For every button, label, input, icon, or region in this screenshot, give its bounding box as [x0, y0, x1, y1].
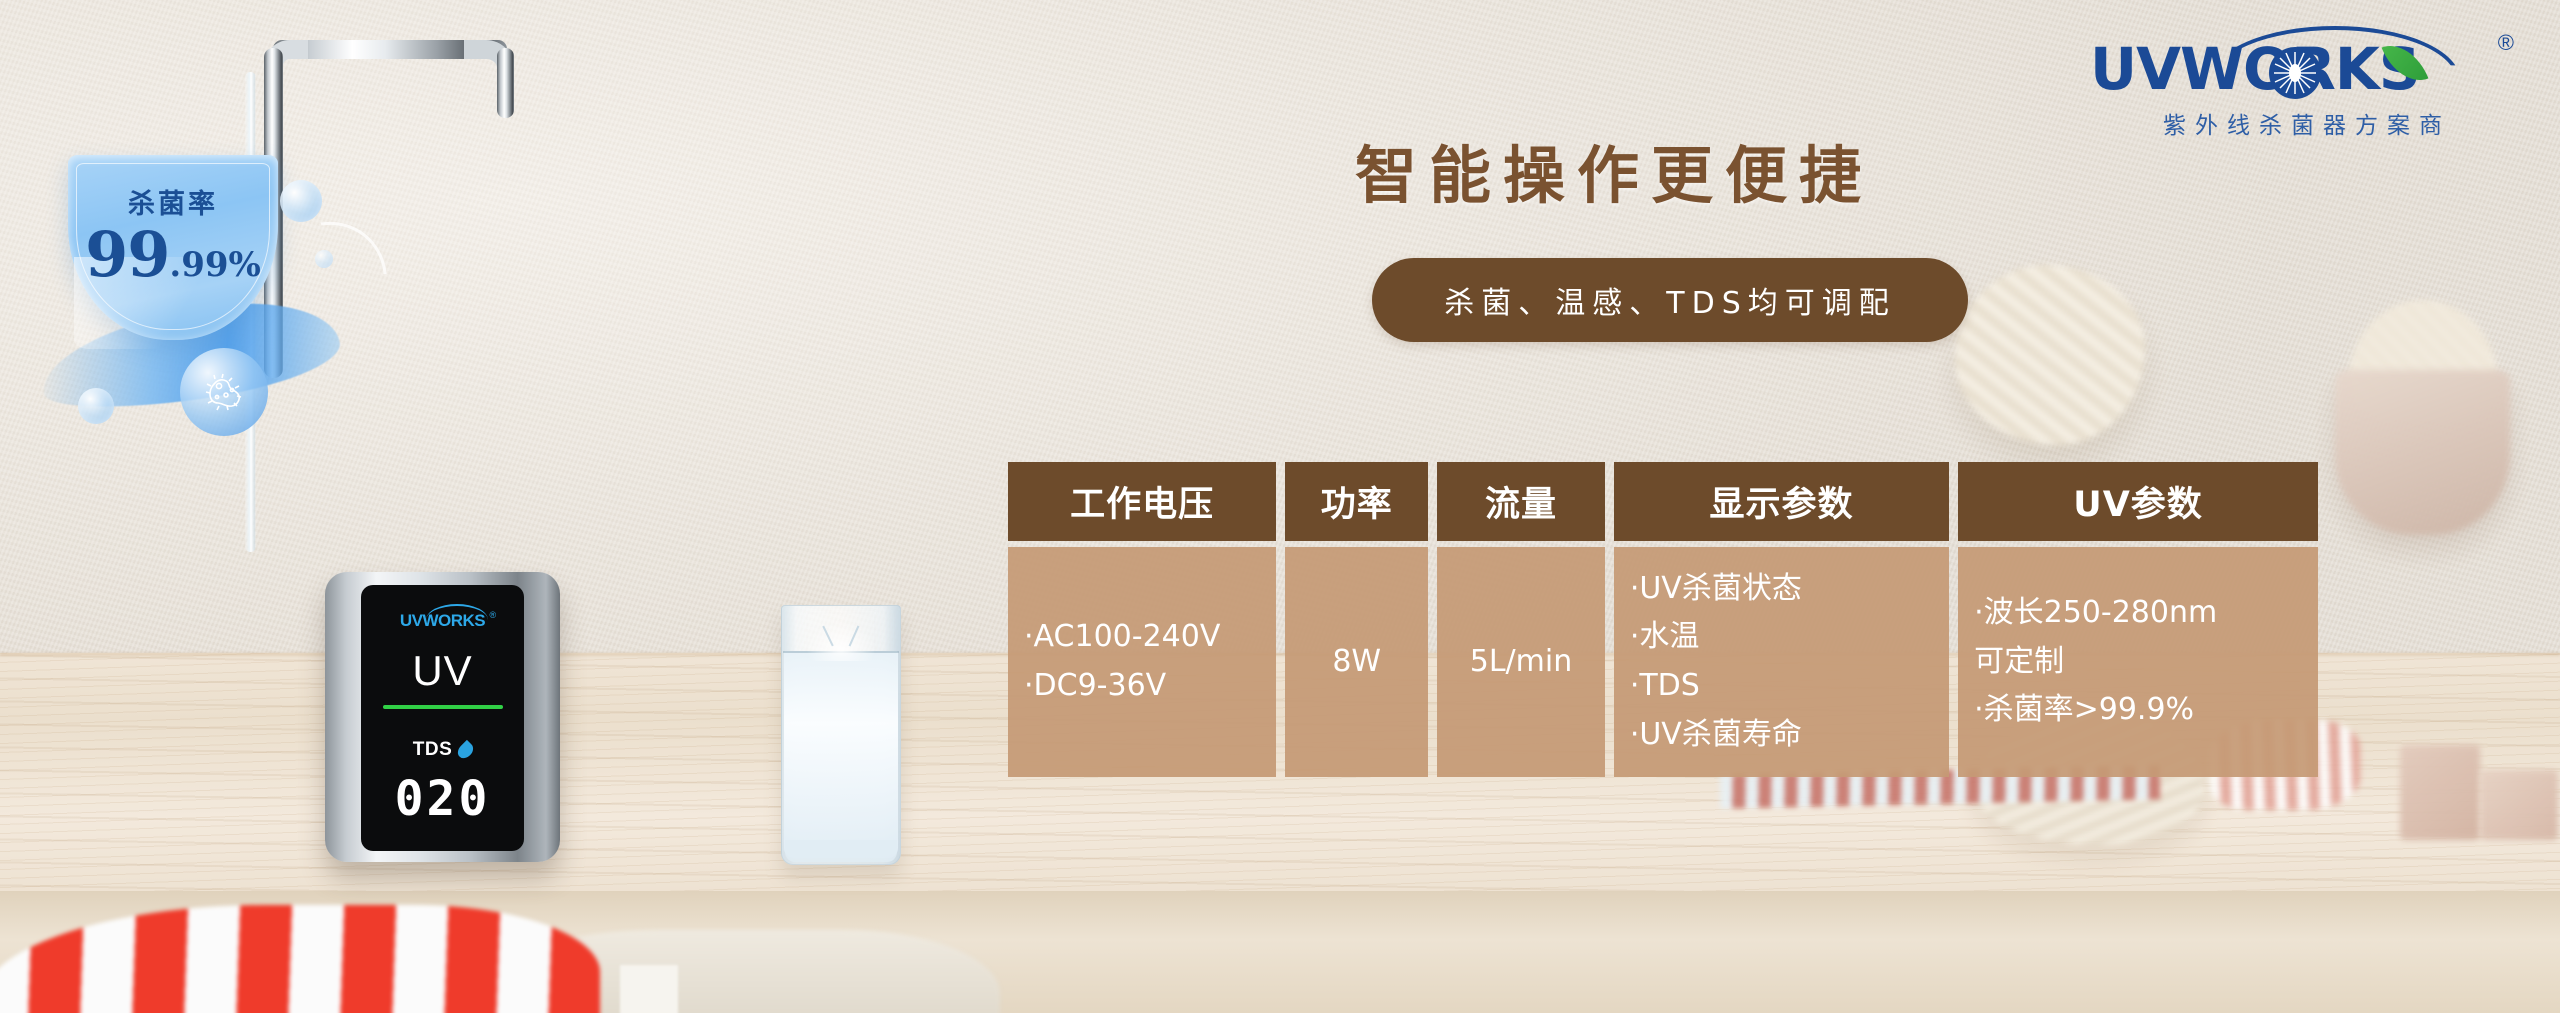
spec-column-display: 显示参数 ·UV杀菌状态 ·水温 ·TDS ·UV杀菌寿命: [1614, 462, 1949, 777]
germ-bubble: [180, 348, 268, 436]
spec-header: 功率: [1285, 462, 1428, 541]
spec-header: 工作电压: [1008, 462, 1276, 541]
logo-arc-icon: [426, 604, 488, 620]
spec-line: ·UV杀菌寿命: [1630, 711, 1933, 760]
wood-block-prop-2: [2480, 770, 2558, 840]
device-tds-row: TDS: [413, 739, 473, 761]
bubble-icon-3: [315, 250, 333, 268]
spec-column-flow: 流量 5L/min: [1437, 462, 1605, 777]
ceramic-pot-prop: [2335, 370, 2510, 535]
spec-column-voltage: 工作电压 ·AC100-240V ·DC9-36V: [1008, 462, 1276, 777]
spec-line: ·杀菌率>99.9%: [1974, 686, 2302, 735]
device-status-bar: [383, 705, 503, 709]
spec-cell: 8W: [1285, 547, 1428, 777]
glass-water-fill: [784, 651, 898, 858]
bubble-icon-1: [280, 180, 322, 222]
logo-tagline: 紫外线杀菌器方案商: [2090, 106, 2510, 140]
page-title: 智能操作更便捷: [1355, 125, 1873, 215]
bubble-icon-2: [78, 388, 114, 424]
subtitle-pill: 杀菌、温感、TDS均可调配: [1372, 258, 1968, 342]
water-drop-icon: [455, 739, 476, 760]
uv-device: UVWORKS ® UV TDS 020: [325, 572, 560, 862]
spec-line: ·水温: [1630, 613, 1933, 662]
plate-square-prop: [620, 965, 678, 1013]
yarn-ball-large-prop: [1955, 265, 2145, 445]
badge-value-big: 99: [85, 218, 169, 291]
brand-logo: UVWORKS ® 紫外线杀菌器方案商: [2090, 32, 2510, 162]
badge-title: 杀菌率: [68, 182, 278, 221]
water-splash-icon: [805, 621, 877, 661]
spec-cell: 5L/min: [1437, 547, 1605, 777]
spec-cell: ·UV杀菌状态 ·水温 ·TDS ·UV杀菌寿命: [1614, 547, 1949, 777]
spec-table: 工作电压 ·AC100-240V ·DC9-36V 功率 8W 流量 5L/mi…: [1008, 462, 2318, 777]
device-tds-value: 020: [395, 771, 491, 827]
spec-line: ·AC100-240V: [1024, 613, 1260, 662]
spec-line: 5L/min: [1470, 638, 1572, 687]
badge-value-small: .99%: [169, 245, 260, 285]
device-mode-label: UV: [412, 647, 472, 695]
spec-line: 8W: [1332, 638, 1381, 687]
spec-header: 流量: [1437, 462, 1605, 541]
water-glass: [781, 605, 901, 865]
glass-base: [785, 840, 897, 862]
sterilization-rate-badge: 杀菌率 99.99%: [30, 130, 360, 390]
logo-wordmark: UVWORKS ®: [2090, 32, 2510, 98]
subtitle-text: 杀菌、温感、TDS均可调配: [1444, 278, 1895, 322]
spec-line: ·TDS: [1630, 662, 1933, 711]
faucet-spout: [497, 48, 514, 118]
bacteria-icon: [202, 370, 246, 414]
spec-cell: ·AC100-240V ·DC9-36V: [1008, 547, 1276, 777]
spec-cell: ·波长250-280nm 可定制 ·杀菌率>99.9%: [1958, 547, 2318, 777]
wood-block-prop-1: [2400, 745, 2480, 840]
spec-column-uv: UV参数 ·波长250-280nm 可定制 ·杀菌率>99.9%: [1958, 462, 2318, 777]
spec-line: ·UV杀菌状态: [1630, 565, 1933, 614]
device-tds-label: TDS: [413, 739, 453, 761]
spec-header: UV参数: [1958, 462, 2318, 541]
device-screen: UVWORKS ® UV TDS 020: [361, 585, 524, 851]
registered-icon: ®: [2498, 30, 2514, 56]
device-screen-logo: UVWORKS ®: [400, 611, 485, 633]
spec-column-power: 功率 8W: [1285, 462, 1428, 777]
sunburst-icon: [2268, 46, 2322, 100]
spec-line: ·DC9-36V: [1024, 662, 1260, 711]
spec-line: 可定制: [1974, 638, 2302, 687]
spec-header: 显示参数: [1614, 462, 1949, 541]
registered-icon: ®: [490, 610, 497, 620]
spec-line: ·波长250-280nm: [1974, 589, 2302, 638]
badge-percentage: 99.99%: [68, 218, 278, 291]
